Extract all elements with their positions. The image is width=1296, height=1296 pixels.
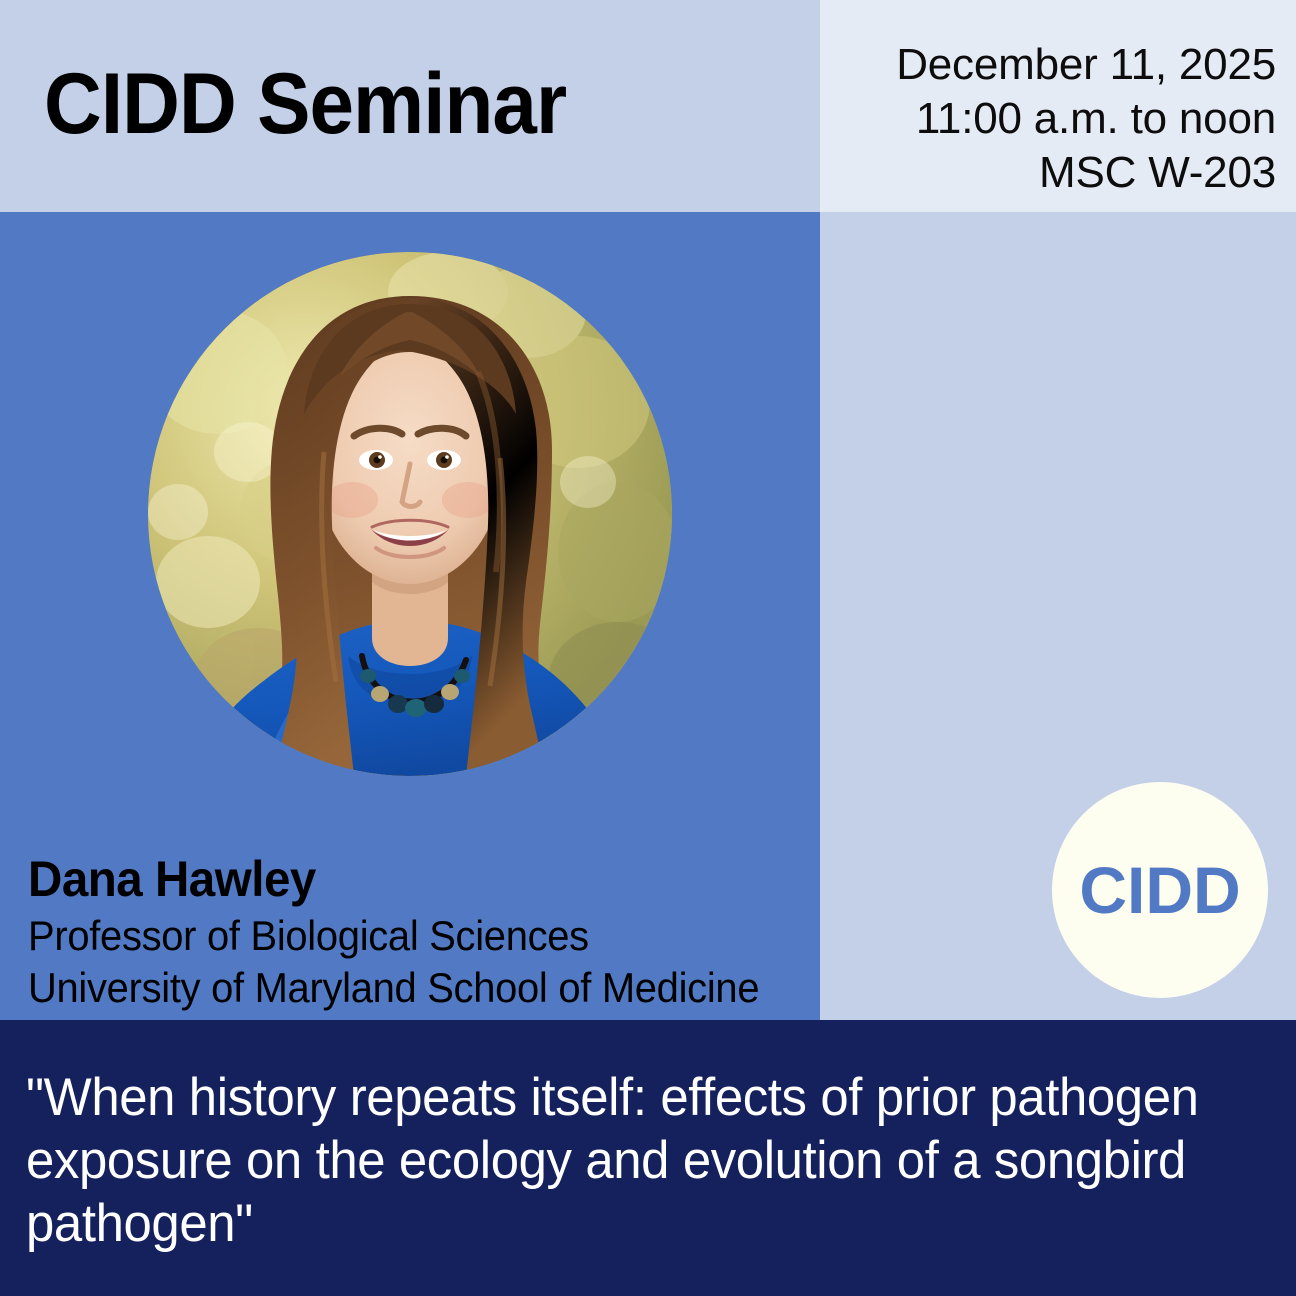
speaker-title: Professor of Biological Sciences xyxy=(28,910,779,962)
speaker-name: Dana Hawley xyxy=(28,848,779,910)
talk-title: "When history repeats itself: effects of… xyxy=(26,1066,1226,1255)
speaker-info: Dana Hawley Professor of Biological Scie… xyxy=(28,848,818,1014)
header-right-panel: December 11, 2025 11:00 a.m. to noon MSC… xyxy=(820,0,1296,212)
header-left-panel: CIDD Seminar xyxy=(0,0,820,212)
event-time: 11:00 a.m. to noon xyxy=(896,92,1276,146)
page-title: CIDD Seminar xyxy=(44,56,566,152)
seminar-poster: CIDD Seminar December 11, 2025 11:00 a.m… xyxy=(0,0,1296,1296)
speaker-affiliation: University of Maryland School of Medicin… xyxy=(28,962,779,1014)
speaker-portrait xyxy=(148,252,672,776)
cidd-logo-label: CIDD xyxy=(1079,857,1240,923)
event-location: MSC W-203 xyxy=(896,146,1276,200)
talk-title-banner: "When history repeats itself: effects of… xyxy=(0,1020,1296,1296)
event-details: December 11, 2025 11:00 a.m. to noon MSC… xyxy=(896,38,1276,200)
cidd-logo: CIDD xyxy=(1052,782,1268,998)
event-date: December 11, 2025 xyxy=(896,38,1276,92)
speaker-photo-image xyxy=(148,252,672,776)
